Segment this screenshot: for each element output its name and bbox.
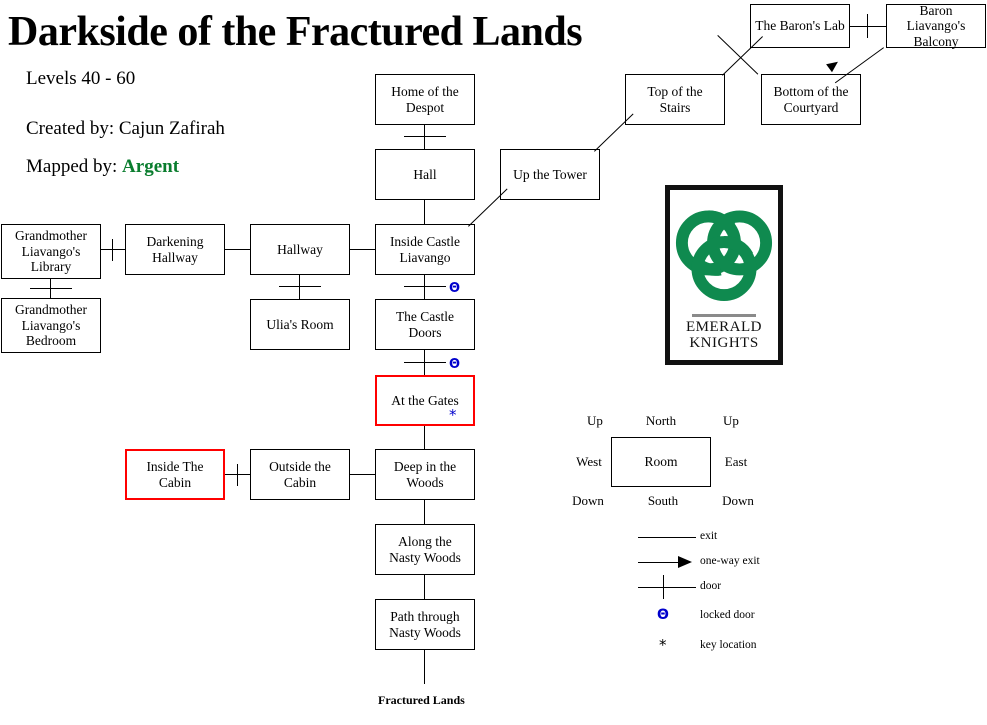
room-outside-the-cabin[interactable]: Outside the Cabin bbox=[250, 449, 350, 500]
room-label: Darkening Hallway bbox=[147, 234, 204, 265]
door-symbol bbox=[279, 286, 321, 287]
logo-line-1: EMERALD bbox=[670, 320, 778, 336]
room-label: Grandmother Liavango's Library bbox=[15, 228, 87, 275]
created-by-value: Cajun Zafirah bbox=[119, 118, 225, 139]
room-label: Top of the Stairs bbox=[647, 84, 702, 115]
room-path-through-nasty-woods[interactable]: Path through Nasty Woods bbox=[375, 599, 475, 650]
created-by-line: Created by: Cajun Zafirah bbox=[26, 118, 225, 140]
compass-room-box: Room bbox=[611, 437, 711, 487]
legend-door-label: door bbox=[700, 580, 721, 592]
compass-down-left: Down bbox=[562, 493, 614, 509]
room-ulias-room[interactable]: Ulia's Room bbox=[250, 299, 350, 350]
map-footer-label: Fractured Lands bbox=[378, 693, 465, 708]
legend-door-line bbox=[638, 587, 696, 588]
link-lab-balcony bbox=[850, 26, 886, 27]
door-symbol bbox=[404, 136, 446, 137]
room-grandmother-liavangos-library[interactable]: Grandmother Liavango's Library bbox=[1, 224, 101, 279]
page-title: Darkside of the Fractured Lands bbox=[8, 8, 582, 56]
legend-locked-door-label: locked door bbox=[700, 609, 755, 621]
door-symbol bbox=[112, 239, 113, 261]
created-by-label: Created by: bbox=[26, 118, 114, 139]
link-darkening-hallway bbox=[225, 249, 250, 250]
door-symbol bbox=[867, 14, 868, 38]
link-hallway-ulias-room bbox=[299, 275, 300, 299]
compass-up-right: Up bbox=[714, 413, 748, 429]
link-deep-along bbox=[424, 500, 425, 524]
room-home-of-the-despot[interactable]: Home of the Despot bbox=[375, 74, 475, 125]
link-path-fractured-lands bbox=[424, 650, 425, 684]
mapped-by-label: Mapped by: bbox=[26, 156, 117, 177]
room-label: The Baron's Lab bbox=[755, 18, 844, 34]
room-grandmother-liavangos-bedroom[interactable]: Grandmother Liavango's Bedroom bbox=[1, 298, 101, 353]
door-symbol bbox=[30, 288, 72, 289]
legend-key-location-icon: * bbox=[659, 638, 667, 653]
room-label: Inside Castle Liavango bbox=[390, 234, 460, 265]
room-top-of-the-stairs[interactable]: Top of the Stairs bbox=[625, 74, 725, 125]
mapped-by-value: Argent bbox=[122, 156, 179, 177]
room-darkening-hallway[interactable]: Darkening Hallway bbox=[125, 224, 225, 275]
room-label: Hallway bbox=[277, 242, 323, 258]
legend-exit-icon bbox=[638, 537, 696, 538]
locked-door-icon: Θ bbox=[449, 358, 460, 371]
room-label: Hall bbox=[413, 167, 436, 183]
room-label: Bottom of the Courtyard bbox=[774, 84, 849, 115]
link-up-tower-top-stairs bbox=[594, 113, 634, 151]
legend-one-way-label: one-way exit bbox=[700, 555, 760, 567]
map-canvas: Darkside of the Fractured Lands Levels 4… bbox=[0, 0, 987, 725]
link-along-path bbox=[424, 575, 425, 599]
compass-up-left: Up bbox=[578, 413, 612, 429]
room-label: Grandmother Liavango's Bedroom bbox=[15, 302, 87, 349]
logo-line-2: KNIGHTS bbox=[670, 336, 778, 352]
room-hall[interactable]: Hall bbox=[375, 149, 475, 200]
room-label: Baron Liavango's Balcony bbox=[889, 3, 983, 50]
room-label: Along the Nasty Woods bbox=[389, 534, 461, 565]
door-symbol bbox=[404, 362, 446, 363]
door-symbol bbox=[404, 286, 446, 287]
link-hallway-inside-castle bbox=[350, 249, 375, 250]
logo-wordmark: EMERALD KNIGHTS bbox=[670, 320, 778, 352]
link-hall-inside-castle bbox=[424, 200, 425, 224]
locked-door-icon: Θ bbox=[449, 282, 460, 295]
legend-locked-door-icon: Θ bbox=[657, 608, 669, 622]
link-inside-castle-doors bbox=[424, 275, 425, 299]
link-outside-cabin-deep-woods bbox=[350, 474, 375, 475]
link-library-darkening bbox=[101, 249, 125, 250]
room-the-barons-lab[interactable]: The Baron's Lab bbox=[750, 4, 850, 48]
room-hallway[interactable]: Hallway bbox=[250, 224, 350, 275]
room-inside-castle-liavango[interactable]: Inside Castle Liavango bbox=[375, 224, 475, 275]
compass-north: North bbox=[637, 413, 685, 429]
room-baron-liavangos-balcony[interactable]: Baron Liavango's Balcony bbox=[886, 4, 986, 48]
logo-divider bbox=[692, 314, 756, 317]
room-label: Deep in the Woods bbox=[394, 459, 456, 490]
link-gates-deep-woods bbox=[424, 426, 425, 449]
room-up-the-tower[interactable]: Up the Tower bbox=[500, 149, 600, 200]
room-label: Home of the Despot bbox=[391, 84, 458, 115]
link-crossing-b bbox=[722, 36, 763, 76]
room-label: Ulia's Room bbox=[266, 317, 333, 333]
compass-west: West bbox=[566, 454, 612, 470]
room-inside-the-cabin[interactable]: Inside The Cabin bbox=[125, 449, 225, 500]
interlocking-rings-icon bbox=[670, 194, 778, 312]
room-label: Path through Nasty Woods bbox=[389, 609, 461, 640]
compass-east: East bbox=[716, 454, 756, 470]
room-deep-in-the-woods[interactable]: Deep in the Woods bbox=[375, 449, 475, 500]
room-label: Up the Tower bbox=[513, 167, 587, 183]
legend-door-icon bbox=[663, 575, 664, 599]
room-label: The Castle Doors bbox=[396, 309, 454, 340]
room-along-the-nasty-woods[interactable]: Along the Nasty Woods bbox=[375, 524, 475, 575]
compass-down-right: Down bbox=[712, 493, 764, 509]
link-despot-hall bbox=[424, 125, 425, 149]
room-label: Inside The Cabin bbox=[146, 459, 203, 490]
legend-key-location-label: key location bbox=[700, 639, 757, 651]
compass-south: South bbox=[637, 493, 689, 509]
room-bottom-of-the-courtyard[interactable]: Bottom of the Courtyard bbox=[761, 74, 861, 125]
room-at-the-gates[interactable]: At the Gates bbox=[375, 375, 475, 426]
emerald-knights-logo: EMERALD KNIGHTS bbox=[665, 185, 783, 365]
room-label: Outside the Cabin bbox=[269, 459, 331, 490]
door-symbol bbox=[237, 464, 238, 486]
legend-exit-label: exit bbox=[700, 530, 717, 542]
one-way-arrowhead-icon bbox=[826, 58, 841, 73]
legend-one-way-arrowhead-icon bbox=[678, 556, 692, 568]
compass-room-label: Room bbox=[644, 454, 677, 470]
key-location-icon: * bbox=[449, 408, 457, 423]
levels-range: Levels 40 - 60 bbox=[26, 68, 135, 90]
mapped-by-line: Mapped by: Argent bbox=[26, 156, 179, 178]
room-the-castle-doors[interactable]: The Castle Doors bbox=[375, 299, 475, 350]
